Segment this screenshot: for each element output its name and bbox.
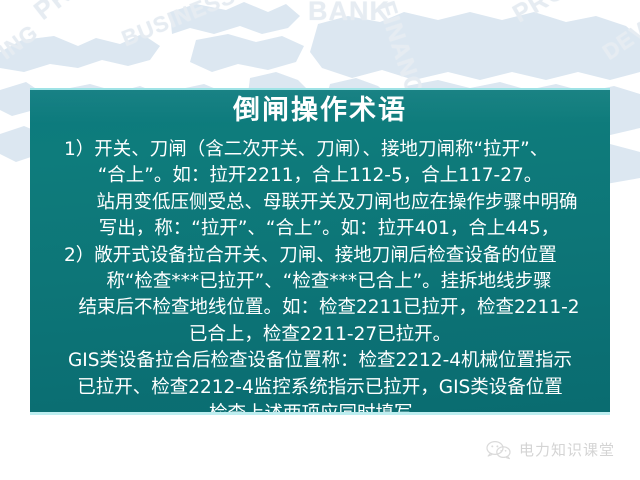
body-line: “合上”。如：拉开2211，合上112-5，合上117-27。 bbox=[46, 163, 594, 189]
body-line: 2）敞开式设备拉合开关、刀闸、接地刀闸后检查设备的位置 bbox=[46, 243, 594, 269]
wechat-icon bbox=[486, 440, 512, 460]
body-line: 称“检查***已拉开”、“检查***已合上”。挂拆地线步骤 bbox=[46, 269, 594, 295]
account-watermark: 电力知识课堂 bbox=[486, 440, 615, 460]
body-line: 站用变低压侧受总、母联开关及刀闸也应在操作步骤中明确 bbox=[46, 190, 594, 216]
body-line: 检查上述两项应同时填写。 bbox=[46, 401, 594, 415]
slide-body-text: 1）开关、刀闸（含二次开关、刀闸）、接地刀闸称“拉开”、 “合上”。如：拉开22… bbox=[46, 137, 594, 415]
body-line: 结束后不检查地线位置。如：检查2211已拉开，检查2211-2 bbox=[46, 295, 594, 321]
slide-title: 倒闸操作术语 bbox=[30, 94, 610, 128]
body-line: 已拉开、检查2212-4监控系统指示已拉开，GIS类设备位置 bbox=[46, 375, 594, 401]
body-line: 已合上，检查2211-27已拉开。 bbox=[46, 322, 594, 348]
slide-panel: 倒闸操作术语 1）开关、刀闸（含二次开关、刀闸）、接地刀闸称“拉开”、 “合上”… bbox=[30, 88, 610, 415]
account-name: 电力知识课堂 bbox=[519, 441, 615, 459]
body-line: 1）开关、刀闸（含二次开关、刀闸）、接地刀闸称“拉开”、 bbox=[46, 137, 594, 163]
body-line: GIS类设备拉合后检查设备位置称：检查2212-4机械位置指示 bbox=[46, 348, 594, 374]
body-line: 写出，称：“拉开”、“合上”。如：拉开401，合上445， bbox=[46, 216, 594, 242]
